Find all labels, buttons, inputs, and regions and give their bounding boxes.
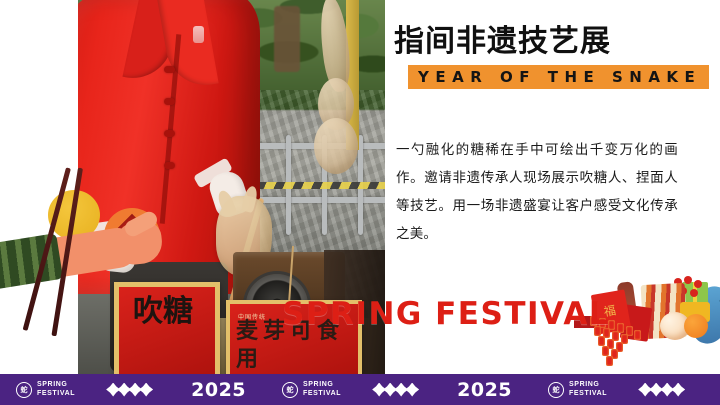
snake-badge-icon: 蛇 xyxy=(548,382,564,398)
sugar-gourd-sculpture xyxy=(314,0,358,230)
spring-festival-badge: 蛇 SPRING FESTIVAL xyxy=(532,381,623,398)
spring-festival-badge: 蛇 SPRING FESTIVAL xyxy=(266,381,357,398)
snake-badge-icon: 蛇 xyxy=(16,382,32,398)
bar-unit: 蛇 SPRING FESTIVAL 2025 xyxy=(0,379,266,401)
badge-label: SPRING FESTIVAL xyxy=(569,381,607,398)
striped-sleeve xyxy=(0,233,63,289)
page-subtitle: YEAR OF THE SNAKE xyxy=(408,65,709,89)
spring-festival-overlay: SPRING FESTIVAL xyxy=(282,296,610,332)
snake-badge-icon: 蛇 xyxy=(282,382,298,398)
bar-unit: 蛇 SPRING FESTIVAL 2025 xyxy=(266,379,532,401)
title-block: 指间非遗技艺展 YEAR OF THE SNAKE xyxy=(390,24,690,89)
jacket-emblem xyxy=(193,26,204,43)
diamond-ornament-icon xyxy=(91,383,171,397)
year-label: 2025 xyxy=(437,379,532,401)
badge-label: SPRING FESTIVAL xyxy=(303,381,341,398)
body-paragraph: 一勺融化的糖稀在手中可绘出千变万化的画作。邀请非遗传承人现场展示吹糖人、捏面人等… xyxy=(396,136,678,248)
diamond-ornament-icon xyxy=(623,383,703,397)
badge-label: SPRING FESTIVAL xyxy=(37,381,75,398)
year-label: 2025 xyxy=(171,379,266,401)
bottom-brand-bar: 蛇 SPRING FESTIVAL 2025 蛇 SPRING FESTIVAL xyxy=(0,374,720,405)
tree-trunk xyxy=(274,6,300,72)
page-title: 指间非遗技艺展 xyxy=(390,24,617,60)
spring-festival-badge: 蛇 SPRING FESTIVAL xyxy=(0,381,91,398)
diamond-ornament-icon xyxy=(357,383,437,397)
slide-canvas: 吹糖 中国传统 麦芽可食用 SPRING FESTIVAL 指间非遗技艺展 YE… xyxy=(0,0,720,405)
orange-fruit-icon xyxy=(684,314,708,338)
bar-unit: 蛇 SPRING FESTIVAL xyxy=(532,381,703,398)
hand-chopsticks-illustration: 灯 xyxy=(0,180,190,330)
